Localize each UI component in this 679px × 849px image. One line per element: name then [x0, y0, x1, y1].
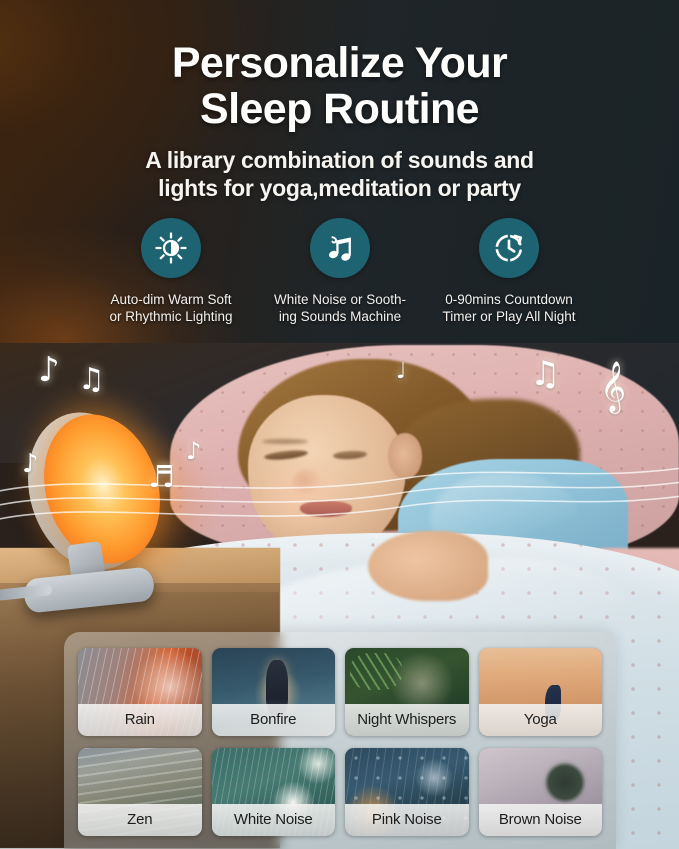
sound-tile-label: Zen — [78, 804, 202, 836]
sound-tile-grid: Rain Bonfire Night Whispers Yoga Zen Whi — [78, 648, 602, 836]
sound-tile-rain[interactable]: Rain — [78, 648, 202, 736]
sound-tile-label: Rain — [78, 704, 202, 736]
sound-tile-bonfire[interactable]: Bonfire — [212, 648, 336, 736]
sound-tile-label: Pink Noise — [345, 804, 469, 836]
feature-item-timer: 0-90mins Countdown Timer or Play All Nig… — [434, 218, 584, 325]
sound-library-panel: Rain Bonfire Night Whispers Yoga Zen Whi — [64, 632, 616, 849]
feature-caption-timer: 0-90mins Countdown Timer or Play All Nig… — [442, 291, 575, 325]
feature-caption-sounds-l2: ing Sounds Machine — [279, 309, 401, 324]
child-ear — [388, 433, 422, 479]
sound-tile-label: Brown Noise — [479, 804, 603, 836]
page-subtitle: A library combination of sounds and ligh… — [0, 146, 679, 202]
sunrise-night-light — [18, 403, 208, 603]
countdown-timer-icon — [479, 218, 539, 278]
sound-tile-yoga[interactable]: Yoga — [479, 648, 603, 736]
subhead-line-2: lights for yoga,meditation or party — [0, 174, 679, 202]
child-arm — [368, 531, 488, 601]
sound-tile-pink-noise[interactable]: Pink Noise — [345, 748, 469, 836]
feature-item-sounds: White Noise or Sooth- ing Sounds Machine — [265, 218, 415, 325]
sound-tile-label: Bonfire — [212, 704, 336, 736]
child-mouth — [300, 501, 352, 517]
headline-line-1: Personalize Your — [172, 39, 507, 87]
sound-tile-white-noise[interactable]: White Noise — [212, 748, 336, 836]
feature-item-lighting: Auto-dim Warm Soft or Rhythmic Lighting — [96, 218, 246, 325]
feature-caption-timer-l1: 0-90mins Countdown — [445, 292, 573, 307]
subhead-line-1: A library combination of sounds and — [145, 147, 534, 173]
music-notes-icon — [310, 218, 370, 278]
product-marketing-image: Personalize Your Sleep Routine A library… — [0, 0, 679, 849]
headline-line-2: Sleep Routine — [0, 86, 679, 132]
feature-caption-timer-l2: Timer or Play All Night — [442, 309, 575, 324]
feature-caption-lighting: Auto-dim Warm Soft or Rhythmic Lighting — [109, 291, 232, 325]
sound-tile-zen[interactable]: Zen — [78, 748, 202, 836]
sound-tile-label: Night Whispers — [345, 704, 469, 736]
brightness-dim-icon — [141, 218, 201, 278]
child-nose — [292, 469, 322, 497]
page-title: Personalize Your Sleep Routine — [0, 40, 679, 132]
feature-caption-sounds: White Noise or Sooth- ing Sounds Machine — [274, 291, 406, 325]
feature-caption-lighting-l2: or Rhythmic Lighting — [109, 309, 232, 324]
sound-tile-label: White Noise — [212, 804, 336, 836]
sound-tile-label: Yoga — [479, 704, 603, 736]
feature-caption-sounds-l1: White Noise or Sooth- — [274, 292, 406, 307]
child-eyebrow — [262, 439, 308, 444]
sound-tile-night-whispers[interactable]: Night Whispers — [345, 648, 469, 736]
feature-list: Auto-dim Warm Soft or Rhythmic Lighting … — [96, 218, 584, 325]
feature-caption-lighting-l1: Auto-dim Warm Soft — [110, 292, 231, 307]
sound-tile-brown-noise[interactable]: Brown Noise — [479, 748, 603, 836]
